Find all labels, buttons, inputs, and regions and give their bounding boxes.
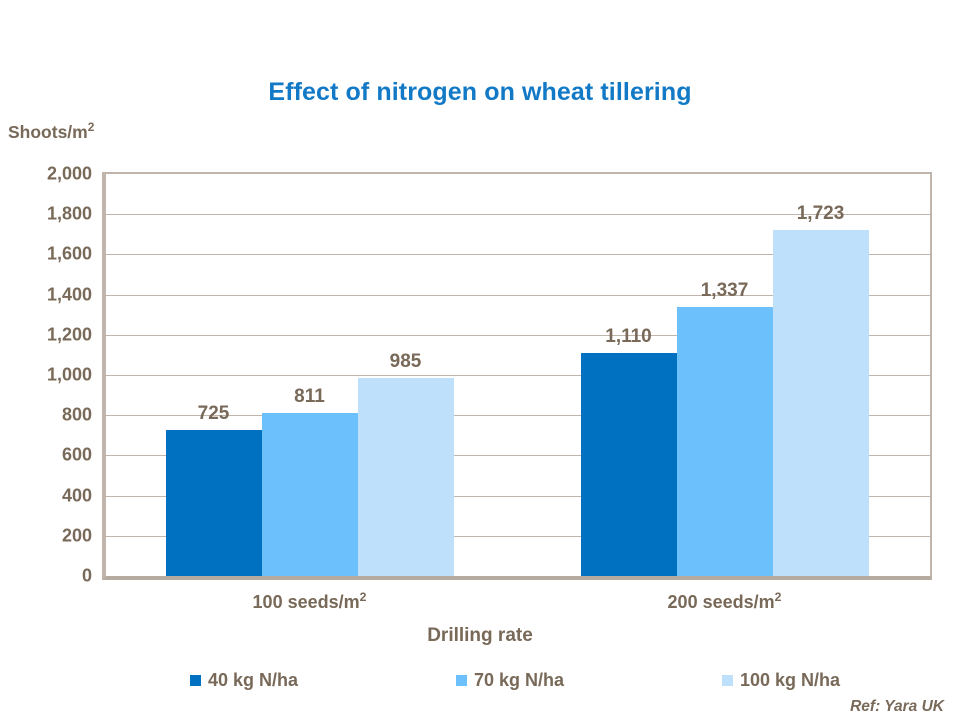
x-axis-category-label-text: 100 seeds/m [253, 592, 360, 612]
y-axis-tick-label: 1,400 [0, 284, 92, 305]
y-axis-title-superscript: 2 [88, 120, 95, 134]
y-axis-tick-label: 0 [0, 566, 92, 587]
bar-value-label: 1,110 [581, 326, 677, 348]
chart-legend: 40 kg N/ha70 kg N/ha100 kg N/ha [190, 670, 840, 691]
x-axis-category-label-superscript: 2 [360, 590, 367, 604]
y-axis-tick-label: 200 [0, 525, 92, 546]
bar [677, 307, 773, 576]
bar-value-label: 985 [358, 351, 454, 373]
bar [166, 430, 262, 576]
plot-inner [106, 174, 930, 576]
bar-value-label: 811 [262, 386, 358, 408]
legend-swatch-icon [722, 675, 733, 686]
chart-container: Effect of nitrogen on wheat tillering Sh… [0, 0, 960, 720]
plot-area [102, 172, 932, 580]
y-axis-tick-label: 1,600 [0, 244, 92, 265]
legend-swatch-icon [190, 675, 201, 686]
y-axis-tick-label: 1,000 [0, 365, 92, 386]
x-axis-category-label-superscript: 2 [775, 590, 782, 604]
y-axis-tick-label: 600 [0, 445, 92, 466]
y-axis-tick-label: 1,200 [0, 324, 92, 345]
bar [262, 413, 358, 576]
legend-item[interactable]: 100 kg N/ha [722, 670, 840, 691]
legend-item[interactable]: 40 kg N/ha [190, 670, 298, 691]
y-axis-title: Shoots/m2 [8, 122, 94, 143]
legend-label: 100 kg N/ha [740, 670, 840, 691]
chart-title: Effect of nitrogen on wheat tillering [0, 78, 960, 107]
y-axis-tick-label: 400 [0, 485, 92, 506]
bar [581, 353, 677, 576]
legend-swatch-icon [456, 675, 467, 686]
bar [358, 378, 454, 576]
bar [773, 230, 869, 576]
legend-label: 40 kg N/ha [208, 670, 298, 691]
x-axis-category-label-text: 200 seeds/m [668, 592, 775, 612]
bar-value-label: 725 [166, 403, 262, 425]
bar-value-label: 1,337 [677, 280, 773, 302]
x-axis-title-text: Drilling rate [427, 625, 533, 646]
reference-note: Ref: Yara UK [850, 698, 944, 716]
y-axis-title-text: Shoots/m [8, 122, 88, 142]
y-axis-tick-label: 800 [0, 405, 92, 426]
x-axis-category-label: 100 seeds/m2 [102, 592, 517, 613]
x-axis-title: Drilling rate [0, 625, 960, 647]
bar-value-label: 1,723 [773, 203, 869, 225]
y-axis-tick-label: 1,800 [0, 204, 92, 225]
legend-label: 70 kg N/ha [474, 670, 564, 691]
y-axis-tick-label: 2,000 [0, 164, 92, 185]
legend-item[interactable]: 70 kg N/ha [456, 670, 564, 691]
x-axis-category-label: 200 seeds/m2 [517, 592, 932, 613]
y-axis-tick-labels: 2,0001,8001,6001,4001,2001,0008006004002… [0, 172, 92, 576]
